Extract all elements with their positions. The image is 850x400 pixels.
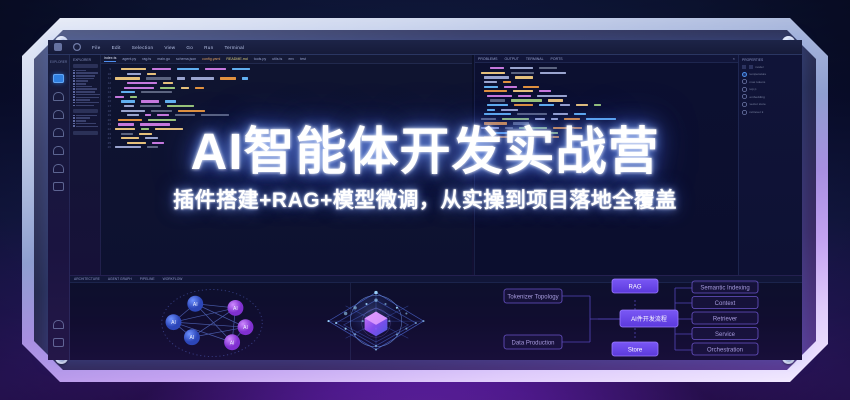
- tab-architecture[interactable]: ARCHITECTURE: [74, 277, 100, 281]
- remote-icon[interactable]: [53, 164, 64, 173]
- property-row[interactable]: temperature: [742, 72, 799, 77]
- tab-tools-py[interactable]: tools.py: [254, 57, 266, 61]
- code-token: [484, 76, 509, 78]
- line-number: 26: [105, 145, 111, 149]
- property-row[interactable]: top p: [742, 87, 799, 92]
- file-name: [76, 123, 96, 125]
- explorer-row[interactable]: [73, 80, 98, 82]
- code-line: 26: [105, 145, 468, 150]
- tab-workflow[interactable]: WORKFLOW: [163, 277, 183, 281]
- code-token: [127, 114, 139, 116]
- property-label: model: [755, 65, 763, 69]
- close-icon[interactable]: ×: [733, 56, 735, 61]
- explorer-row[interactable]: [73, 120, 98, 122]
- visualization-strip: ARCHITECTURE AGENT GRAPH PIPELINE WORKFL…: [70, 275, 802, 360]
- node-dot: [354, 333, 356, 335]
- flow-node-right-0[interactable]: Semantic Indexing: [692, 281, 758, 293]
- code-token: [232, 68, 250, 70]
- flow-node-store[interactable]: Store: [612, 342, 658, 356]
- code-line: [479, 135, 734, 140]
- code-token: [205, 68, 226, 70]
- explorer-row[interactable]: [73, 102, 98, 104]
- tab-terminal[interactable]: TERMINAL: [526, 57, 544, 61]
- code-token: [127, 82, 157, 84]
- menu-item-run[interactable]: Run: [204, 45, 213, 50]
- code-token: [551, 118, 558, 120]
- explorer-row[interactable]: [73, 117, 98, 119]
- code-token: [127, 73, 141, 75]
- code-token: [548, 99, 563, 101]
- code-token: [124, 87, 154, 89]
- code-token: [152, 68, 171, 70]
- code-token: [539, 104, 554, 106]
- database-icon: [742, 102, 747, 107]
- poster-stage: File Edit Selection View Go Run Terminal…: [0, 0, 850, 400]
- code-token: [510, 67, 533, 69]
- line-number: 21: [105, 122, 111, 126]
- menu-item-selection[interactable]: Selection: [132, 45, 154, 50]
- code-token: [487, 109, 495, 111]
- property-row[interactable]: retriever k: [742, 110, 799, 115]
- code-token: [511, 99, 542, 101]
- file-name: [76, 70, 86, 72]
- code-token: [160, 87, 175, 89]
- code-token: [535, 118, 545, 120]
- file-icon: [73, 123, 75, 125]
- tab-output[interactable]: OUTPUT: [504, 57, 518, 61]
- search-icon: [742, 110, 747, 115]
- code-token: [513, 122, 529, 124]
- terminal-lines: [475, 63, 738, 143]
- code-token: [115, 96, 124, 98]
- tab-agent-py[interactable]: agent.py: [122, 57, 136, 61]
- graph-edge: [173, 322, 232, 342]
- code-token: [178, 110, 205, 112]
- line-number: 23: [105, 132, 111, 136]
- code-token: [520, 136, 525, 138]
- dot-icon: [742, 65, 746, 69]
- menu-item-view[interactable]: View: [164, 45, 175, 50]
- explorer-open-editors[interactable]: [73, 64, 98, 68]
- node-dot: [374, 298, 377, 301]
- code-token: [481, 118, 496, 120]
- code-token: [576, 104, 588, 106]
- flow-node-center[interactable]: AI件开发流程: [620, 310, 678, 327]
- code-token: [121, 133, 133, 135]
- line-number: 25: [105, 141, 111, 145]
- code-token: [147, 73, 156, 75]
- file-icon: [73, 125, 75, 127]
- back-arrow-icon[interactable]: [54, 43, 62, 51]
- explorer-header: EXPLORER: [73, 58, 98, 62]
- file-name: [76, 99, 90, 101]
- properties-header: PROPERTIES: [742, 58, 799, 62]
- property-label: vector store: [750, 102, 766, 106]
- tab-rag-ts[interactable]: rag.ts: [142, 57, 151, 61]
- tab-readme-md[interactable]: README.md: [226, 57, 247, 61]
- code-token: [484, 113, 511, 115]
- code-token: [490, 99, 505, 101]
- code-token: [163, 82, 173, 84]
- file-name: [76, 88, 97, 90]
- code-token: [515, 76, 533, 78]
- flow-node-label: Store: [628, 347, 643, 353]
- graph-node[interactable]: AI: [166, 314, 182, 330]
- code-token: [586, 118, 616, 120]
- explorer-row[interactable]: [73, 123, 98, 125]
- property-label: top p: [750, 87, 757, 91]
- node-dot: [327, 320, 329, 322]
- line-number: 19: [105, 113, 111, 117]
- graph-node[interactable]: AI: [224, 334, 240, 350]
- file-name: [76, 105, 94, 107]
- code-token: [481, 127, 499, 129]
- file-name: [76, 86, 92, 88]
- code-token: [191, 77, 214, 79]
- explorer-project-list[interactable]: [73, 115, 98, 127]
- file-icon: [73, 72, 75, 74]
- code-token: [522, 132, 533, 134]
- graph-node[interactable]: AI: [187, 296, 203, 312]
- code-token: [484, 136, 514, 138]
- file-name: [76, 83, 86, 85]
- activity-bar-label: EXPLORER: [50, 60, 67, 64]
- tab-ports[interactable]: PORTS: [551, 57, 563, 61]
- flow-node-label: Data Production: [511, 340, 554, 346]
- node-dot: [353, 306, 356, 309]
- code-token: [523, 86, 539, 88]
- graph-node[interactable]: AI: [227, 300, 243, 316]
- node-dot: [405, 312, 407, 314]
- code-token: [141, 128, 149, 130]
- file-icon: [73, 86, 75, 88]
- node-dot: [374, 291, 377, 294]
- code-token: [519, 127, 547, 129]
- property-row[interactable]: vector store: [742, 102, 799, 107]
- line-number: 12: [105, 81, 111, 85]
- file-icon: [73, 117, 75, 119]
- terminal-panel[interactable]: PROBLEMS OUTPUT TERMINAL PORTS ×: [474, 55, 738, 275]
- explorer-row[interactable]: [73, 125, 98, 127]
- settings-icon[interactable]: [53, 338, 64, 347]
- file-icon: [73, 115, 75, 117]
- tab-config-yaml[interactable]: config.yaml: [202, 57, 220, 61]
- property-row[interactable]: embedding: [742, 94, 799, 99]
- file-icon: [73, 96, 75, 98]
- node-dot: [396, 307, 398, 309]
- code-token: [121, 137, 139, 139]
- flow-node-rag[interactable]: RAG: [612, 279, 658, 293]
- explorer-row[interactable]: [73, 105, 98, 107]
- file-name: [76, 102, 99, 104]
- flow-node-label: AI件开发流程: [631, 315, 667, 323]
- code-token: [115, 128, 135, 130]
- code-token: [518, 95, 531, 97]
- code-token: [539, 67, 557, 69]
- code-token: [517, 113, 547, 115]
- node-dot: [344, 312, 347, 315]
- code-token: [121, 100, 135, 102]
- file-name: [76, 115, 97, 117]
- file-name: [76, 80, 88, 82]
- file-icon: [73, 105, 75, 107]
- code-token: [564, 118, 580, 120]
- code-token: [484, 90, 507, 92]
- line-number: 13: [105, 86, 111, 90]
- code-token: [165, 100, 176, 102]
- file-icon: [73, 91, 75, 93]
- explorer-section-project[interactable]: [73, 109, 98, 113]
- tab-problems[interactable]: PROBLEMS: [478, 57, 497, 61]
- search-icon[interactable]: [73, 43, 81, 51]
- code-token: [504, 86, 517, 88]
- code-token: [148, 119, 176, 121]
- tab-env[interactable]: env: [288, 57, 294, 61]
- code-token: [220, 77, 236, 79]
- property-label: max tokens: [750, 80, 766, 84]
- node-dot: [396, 333, 398, 335]
- graph-nodes: AIAIAIAIAIAI: [166, 296, 254, 350]
- code-token: [155, 128, 183, 130]
- code-token: [487, 104, 508, 106]
- search-icon[interactable]: [53, 92, 64, 101]
- extensions-icon[interactable]: [53, 146, 64, 155]
- code-token: [539, 90, 551, 92]
- code-token: [157, 114, 169, 116]
- explorer-row[interactable]: [73, 75, 98, 77]
- file-name: [76, 120, 86, 122]
- ai-development-flowchart: RAGAI件开发流程StoreTokenizer TopologyData Pr…: [470, 278, 800, 360]
- file-icon: [73, 70, 75, 72]
- explorer-row[interactable]: [73, 94, 98, 96]
- node-dot: [375, 345, 377, 347]
- code-token: [141, 91, 172, 93]
- code-lines[interactable]: 91011121314151617181920212223242526: [101, 64, 472, 153]
- layers-icon: [742, 94, 747, 99]
- code-token: [514, 104, 533, 106]
- explorer-row[interactable]: [73, 99, 98, 101]
- code-token: [145, 114, 151, 116]
- files-icon[interactable]: [53, 74, 64, 83]
- flow-nodes: RAGAI件开发流程StoreTokenizer TopologyData Pr…: [504, 279, 758, 356]
- line-number: 10: [105, 72, 111, 76]
- flow-node-label: Retriever: [713, 316, 737, 322]
- tab-agent-graph[interactable]: AGENT GRAPH: [108, 277, 132, 281]
- flow-node-label: Service: [715, 332, 736, 338]
- flow-node-right-3[interactable]: Service: [692, 328, 758, 340]
- file-name: [76, 117, 90, 119]
- graph-node[interactable]: AI: [184, 329, 200, 345]
- tab-schema-json[interactable]: schema.json: [176, 57, 196, 61]
- line-number: 9: [105, 67, 111, 71]
- code-token: [177, 68, 199, 70]
- node-dot: [375, 349, 377, 351]
- explorer-row[interactable]: [73, 88, 98, 90]
- code-token: [124, 105, 134, 107]
- account-icon[interactable]: [53, 320, 64, 329]
- code-token: [560, 104, 570, 106]
- flow-node-right-2[interactable]: Retriever: [692, 312, 758, 324]
- code-token: [151, 110, 172, 112]
- file-icon: [73, 75, 75, 77]
- line-number: 15: [105, 95, 111, 99]
- code-token: [484, 86, 498, 88]
- menu-item-file[interactable]: File: [92, 45, 101, 50]
- file-icon: [73, 94, 75, 96]
- explorer-section-outline[interactable]: [73, 131, 98, 135]
- explorer-row[interactable]: [73, 72, 98, 74]
- file-name: [76, 75, 95, 77]
- node-dot: [365, 303, 367, 305]
- code-editor[interactable]: index.ts agent.py rag.ts main.go schema.…: [101, 55, 472, 275]
- graph-node[interactable]: AI: [238, 319, 254, 335]
- code-token: [481, 72, 505, 74]
- flow-node-label: RAG: [628, 284, 641, 290]
- ide-screen: File Edit Selection View Go Run Terminal…: [48, 40, 802, 360]
- flow-node-tokenizer[interactable]: Tokenizer Topology: [504, 289, 562, 303]
- explorer-row[interactable]: [73, 91, 98, 93]
- code-token: [121, 68, 146, 70]
- line-number: 16: [105, 99, 111, 103]
- properties-panel: PROPERTIES model temperature max tokens …: [738, 55, 802, 275]
- flow-node-right-1[interactable]: Context: [692, 297, 758, 309]
- code-token: [537, 95, 567, 97]
- file-name: [76, 94, 100, 96]
- explorer-row[interactable]: [73, 83, 98, 85]
- code-token: [147, 146, 158, 148]
- file-icon: [73, 120, 75, 122]
- node-label: AI: [230, 340, 235, 346]
- property-row[interactable]: model: [742, 65, 799, 69]
- line-number: 18: [105, 109, 111, 113]
- file-name: [76, 78, 94, 80]
- tab-test[interactable]: test: [300, 57, 306, 61]
- sliders-icon: [742, 79, 747, 84]
- graph-edge: [173, 322, 245, 327]
- node-label: AI: [193, 302, 198, 308]
- line-number: 22: [105, 127, 111, 131]
- code-token: [146, 77, 171, 79]
- tab-main-go[interactable]: main.go: [157, 57, 170, 61]
- code-token: [574, 113, 586, 115]
- file-name: [76, 72, 98, 74]
- menu-item-go[interactable]: Go: [186, 45, 193, 50]
- activity-bar: EXPLORER: [48, 55, 70, 360]
- file-name: [76, 91, 95, 93]
- code-token: [502, 118, 529, 120]
- agent-network-graph: AIAIAIAIAIAI: [148, 287, 276, 359]
- file-icon: [73, 102, 75, 104]
- flow-node-right-4[interactable]: Orchestration: [692, 343, 758, 355]
- code-token: [177, 77, 185, 79]
- code-token: [139, 133, 152, 135]
- flow-node-data[interactable]: Data Production: [504, 335, 562, 349]
- code-token: [130, 96, 137, 98]
- explorer-file-list[interactable]: [73, 70, 98, 107]
- code-token: [118, 123, 134, 125]
- node-dot: [335, 322, 337, 324]
- gear-icon: [742, 72, 747, 77]
- code-token: [195, 87, 204, 89]
- code-token: [115, 77, 140, 79]
- node-label: AI: [171, 320, 176, 326]
- flow-node-label: Tokenizer Topology: [507, 294, 558, 300]
- explorer-row[interactable]: [73, 70, 98, 72]
- menu-item-edit[interactable]: Edit: [112, 45, 121, 50]
- line-number: 17: [105, 104, 111, 108]
- explorer-row[interactable]: [73, 78, 98, 80]
- tab-utils-ts[interactable]: utils.ts: [272, 57, 282, 61]
- file-icon: [73, 83, 75, 85]
- source-control-icon[interactable]: [53, 110, 64, 119]
- code-token: [141, 100, 159, 102]
- code-token: [115, 146, 141, 148]
- flow-node-label: Orchestration: [707, 347, 743, 353]
- code-token: [140, 105, 161, 107]
- code-token: [487, 95, 512, 97]
- code-token: [121, 91, 135, 93]
- code-token: [242, 77, 248, 79]
- code-token: [175, 114, 195, 116]
- line-number: 24: [105, 136, 111, 140]
- isometric-core-visual: [314, 285, 438, 360]
- code-token: [503, 81, 511, 83]
- tab-index-ts[interactable]: index.ts: [104, 56, 116, 62]
- tab-pipeline[interactable]: PIPELINE: [140, 277, 155, 281]
- dot-icon: [749, 65, 753, 69]
- code-token: [152, 142, 164, 144]
- file-icon: [73, 78, 75, 80]
- explorer-row[interactable]: [73, 86, 98, 88]
- explorer-row[interactable]: [73, 96, 98, 98]
- property-label: retriever k: [750, 110, 764, 114]
- file-icon: [73, 88, 75, 90]
- code-token: [553, 127, 582, 129]
- node-label: AI: [233, 306, 238, 312]
- property-row[interactable]: max tokens: [742, 79, 799, 84]
- code-token: [127, 142, 146, 144]
- explorer-row[interactable]: [73, 115, 98, 117]
- code-token: [501, 109, 518, 111]
- code-token: [531, 136, 559, 138]
- code-token: [121, 110, 145, 112]
- ide-menubar: File Edit Selection View Go Run Terminal: [48, 40, 802, 55]
- property-label: embedding: [750, 95, 765, 99]
- code-token: [539, 132, 558, 134]
- line-number: 20: [105, 118, 111, 122]
- node-dot: [422, 320, 424, 322]
- menu-item-terminal[interactable]: Terminal: [224, 45, 244, 50]
- code-token: [140, 123, 170, 125]
- code-token: [490, 132, 516, 134]
- node-dot: [384, 303, 386, 305]
- flow-node-label: Semantic Indexing: [700, 285, 749, 291]
- debug-icon[interactable]: [53, 128, 64, 137]
- code-token: [511, 72, 534, 74]
- code-token: [484, 81, 497, 83]
- code-token: [540, 72, 566, 74]
- code-token: [167, 105, 194, 107]
- file-icon: [73, 99, 75, 101]
- code-token: [505, 127, 513, 129]
- node-label: AI: [190, 335, 195, 341]
- graph-edge: [173, 308, 235, 322]
- file-icon: [73, 80, 75, 82]
- more-icon[interactable]: [53, 182, 64, 191]
- code-token: [513, 90, 533, 92]
- terminal-tabbar: PROBLEMS OUTPUT TERMINAL PORTS ×: [475, 55, 738, 63]
- code-token: [594, 104, 601, 106]
